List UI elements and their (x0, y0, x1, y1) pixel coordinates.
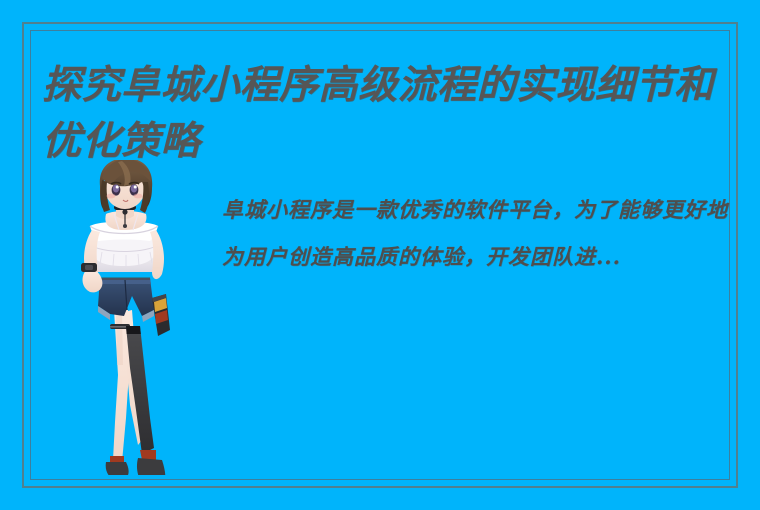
illustration-svg (66, 160, 196, 475)
page-title: 探究阜城小程序高级流程的实现细节和优化策略 (42, 57, 742, 169)
anime-girl-illustration (66, 160, 196, 475)
article-card: 探究阜城小程序高级流程的实现细节和优化策略 (0, 0, 760, 510)
article-excerpt: 阜城小程序是一款优秀的软件平台，为了能够更好地为用户创造高品质的体验，开发团队进… (222, 186, 728, 280)
